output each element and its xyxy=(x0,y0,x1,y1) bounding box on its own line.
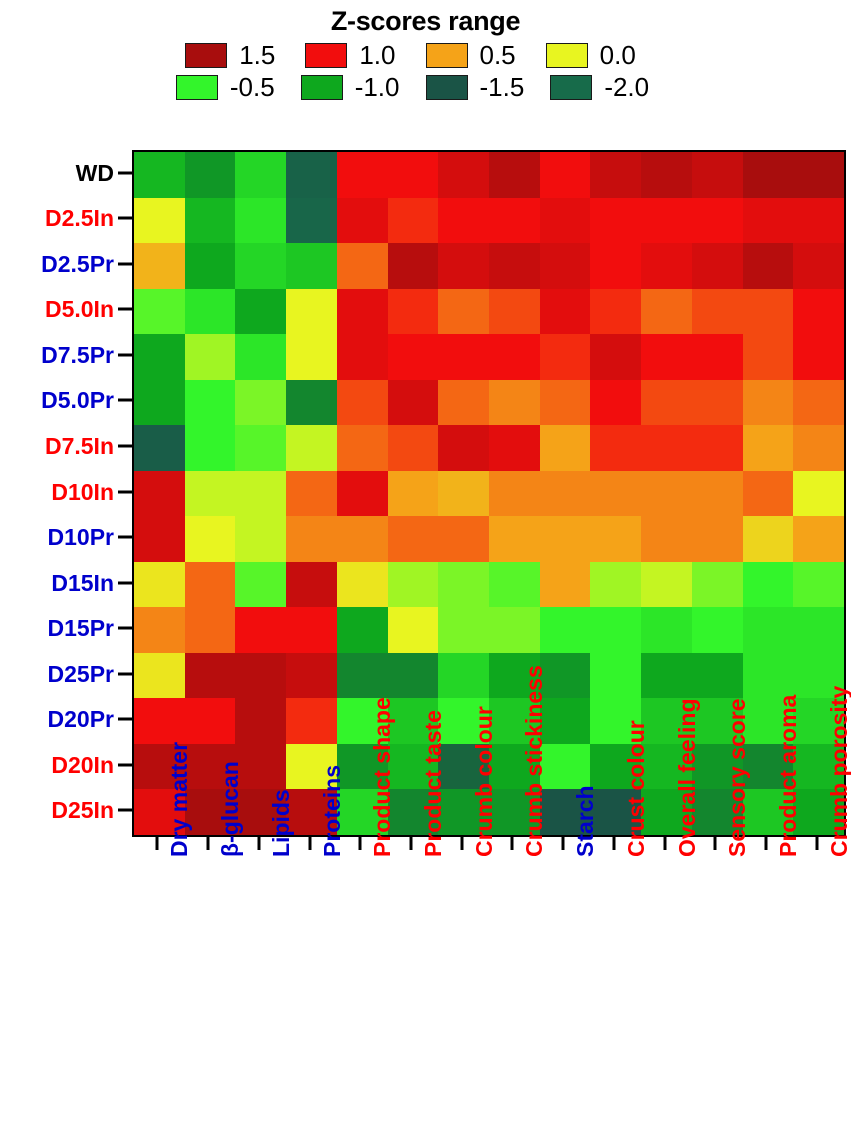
legend-swatch xyxy=(550,75,592,100)
heatmap-cell xyxy=(590,380,641,426)
heatmap-cell xyxy=(793,471,844,517)
column-tick xyxy=(663,835,666,850)
heatmap-cell xyxy=(185,698,236,744)
heatmap-cell xyxy=(337,289,388,335)
heatmap-cell xyxy=(641,152,692,198)
column-tick xyxy=(257,835,260,850)
row-tick xyxy=(118,171,132,174)
heatmap-cell xyxy=(590,198,641,244)
heatmap-cell xyxy=(134,653,185,699)
heatmap-cell xyxy=(235,562,286,608)
heatmap-cell xyxy=(743,289,794,335)
legend-label: -0.5 xyxy=(230,74,275,100)
heatmap-cell xyxy=(641,562,692,608)
column-tick xyxy=(815,835,818,850)
heatmap-cell xyxy=(134,152,185,198)
heatmap-cell xyxy=(185,152,236,198)
legend-entry: 0.0 xyxy=(546,42,666,68)
heatmap-cell xyxy=(286,425,337,471)
heatmap-cell xyxy=(235,334,286,380)
heatmap-cell xyxy=(641,243,692,289)
row-tick xyxy=(118,399,132,402)
heatmap-cell xyxy=(337,380,388,426)
heatmap-cell xyxy=(235,152,286,198)
heatmap-cell xyxy=(286,562,337,608)
heatmap-cell xyxy=(134,289,185,335)
heatmap-cell xyxy=(185,653,236,699)
legend-entry: 1.5 xyxy=(185,42,305,68)
heatmap-cell xyxy=(388,471,439,517)
heatmap-cell xyxy=(235,607,286,653)
heatmap-cell xyxy=(692,607,743,653)
heatmap-cell xyxy=(641,334,692,380)
heatmap-cell xyxy=(185,243,236,289)
heatmap-cell xyxy=(438,334,489,380)
heatmap-cell xyxy=(286,334,337,380)
heatmap-cell xyxy=(134,380,185,426)
column-axis-labels: Dry matterβ-glucanLipidsProteinsProduct … xyxy=(132,835,846,1129)
heatmap-cell xyxy=(590,152,641,198)
heatmap-cell xyxy=(185,516,236,562)
heatmap-cell xyxy=(235,698,286,744)
heatmap-cell xyxy=(235,243,286,289)
row-tick xyxy=(118,536,132,539)
row-tick xyxy=(118,262,132,265)
heatmap-cell xyxy=(134,471,185,517)
heatmap-cell xyxy=(235,289,286,335)
heatmap-cell xyxy=(540,334,591,380)
legend-swatch xyxy=(426,43,468,68)
heatmap-cell xyxy=(286,516,337,562)
heatmap-cell xyxy=(540,380,591,426)
heatmap-cell xyxy=(590,562,641,608)
heatmap-cell xyxy=(134,198,185,244)
heatmap-cell xyxy=(743,562,794,608)
heatmap-cell xyxy=(540,152,591,198)
heatmap-cell xyxy=(185,471,236,517)
heatmap-cell xyxy=(388,243,439,289)
heatmap-cell xyxy=(235,471,286,517)
row-tick xyxy=(118,490,132,493)
column-tick xyxy=(308,835,311,850)
heatmap-cell xyxy=(337,334,388,380)
heatmap-cell xyxy=(286,607,337,653)
heatmap-cell xyxy=(337,425,388,471)
row-axis-labels: WDD2.5InD2.5PrD5.0InD7.5PrD5.0PrD7.5InD1… xyxy=(0,150,132,833)
heatmap-cell xyxy=(641,471,692,517)
heatmap-cell xyxy=(286,653,337,699)
heatmap-cell xyxy=(793,243,844,289)
legend-swatch xyxy=(301,75,343,100)
heatmap-cell xyxy=(489,562,540,608)
column-tick xyxy=(714,835,717,850)
heatmap-cell xyxy=(489,516,540,562)
chart-title: Z-scores range xyxy=(0,6,851,36)
heatmap-cell xyxy=(590,425,641,471)
heatmap-cell xyxy=(388,425,439,471)
heatmap-cell xyxy=(235,198,286,244)
heatmap-cell xyxy=(692,425,743,471)
heatmap-cell xyxy=(489,471,540,517)
heatmap-cell xyxy=(590,471,641,517)
heatmap-cell xyxy=(641,289,692,335)
heatmap-cell xyxy=(134,562,185,608)
heatmap-cell xyxy=(134,334,185,380)
legend-row-bottom: -0.5-1.0-1.5-2.0 xyxy=(0,74,851,100)
heatmap-cell xyxy=(438,243,489,289)
legend-entry: -1.0 xyxy=(301,74,426,100)
legend-entry: 0.5 xyxy=(426,42,546,68)
heatmap-cell xyxy=(489,198,540,244)
heatmap-cell xyxy=(641,198,692,244)
heatmap-cell xyxy=(337,152,388,198)
heatmap-cell xyxy=(692,289,743,335)
heatmap-cell xyxy=(793,152,844,198)
heatmap-cell xyxy=(793,562,844,608)
heatmap-cell xyxy=(388,380,439,426)
row-tick xyxy=(118,308,132,311)
heatmap-cell xyxy=(185,607,236,653)
heatmap-cell xyxy=(743,152,794,198)
heatmap-cell xyxy=(743,516,794,562)
heatmap-cell xyxy=(388,334,439,380)
heatmap-cell xyxy=(235,653,286,699)
heatmap-cell xyxy=(641,425,692,471)
heatmap-cell xyxy=(743,653,794,699)
heatmap-cell xyxy=(438,471,489,517)
heatmap-cell xyxy=(743,425,794,471)
heatmap-cell xyxy=(692,471,743,517)
heatmap-cell xyxy=(286,380,337,426)
heatmap-cell xyxy=(337,653,388,699)
heatmap-cell xyxy=(489,607,540,653)
heatmap-cell xyxy=(388,516,439,562)
heatmap-cell xyxy=(286,198,337,244)
heatmap-cell xyxy=(641,380,692,426)
heatmap-cell xyxy=(235,380,286,426)
heatmap-cell xyxy=(540,425,591,471)
heatmap-cell xyxy=(235,425,286,471)
heatmap-cell xyxy=(793,425,844,471)
heatmap-cell xyxy=(438,425,489,471)
heatmap-cell xyxy=(134,516,185,562)
heatmap-cell xyxy=(286,289,337,335)
heatmap-cell xyxy=(793,198,844,244)
heatmap-cell xyxy=(793,380,844,426)
column-tick xyxy=(511,835,514,850)
heatmap-cell xyxy=(641,653,692,699)
heatmap-cell xyxy=(590,607,641,653)
heatmap-cell xyxy=(134,243,185,289)
heatmap-cell xyxy=(793,516,844,562)
row-tick xyxy=(118,672,132,675)
heatmap-cell xyxy=(590,243,641,289)
heatmap-cell xyxy=(540,198,591,244)
heatmap-cell xyxy=(743,380,794,426)
legend-label: -1.0 xyxy=(355,74,400,100)
heatmap-cell xyxy=(743,243,794,289)
heatmap-cell xyxy=(743,334,794,380)
legend-label: -1.5 xyxy=(480,74,525,100)
heatmap-cell xyxy=(590,653,641,699)
heatmap-cell xyxy=(590,334,641,380)
heatmap-cell xyxy=(692,152,743,198)
heatmap-cell xyxy=(388,562,439,608)
heatmap-cell xyxy=(337,516,388,562)
row-tick xyxy=(118,809,132,812)
heatmap-cell xyxy=(337,198,388,244)
legend-swatch xyxy=(546,43,588,68)
heatmap-cell xyxy=(388,289,439,335)
heatmap-cell xyxy=(540,607,591,653)
column-tick xyxy=(562,835,565,850)
heatmap-cell xyxy=(692,562,743,608)
heatmap-cell xyxy=(743,198,794,244)
heatmap-cell xyxy=(337,562,388,608)
column-tick xyxy=(156,835,159,850)
heatmap-cell xyxy=(793,607,844,653)
legend-block: Z-scores range 1.51.00.50.0 -0.5-1.0-1.5… xyxy=(0,0,851,136)
heatmap-cell xyxy=(692,653,743,699)
heatmap-cell xyxy=(590,516,641,562)
row-tick xyxy=(118,763,132,766)
legend-entry: 1.0 xyxy=(305,42,425,68)
column-tick xyxy=(207,835,210,850)
heatmap-cell xyxy=(134,425,185,471)
heatmap-cell xyxy=(185,289,236,335)
column-tick xyxy=(460,835,463,850)
heatmap-cell xyxy=(438,198,489,244)
legend-label: -2.0 xyxy=(604,74,649,100)
heatmap-cell xyxy=(743,471,794,517)
heatmap-cell xyxy=(489,425,540,471)
heatmap-cell xyxy=(489,243,540,289)
heatmap-cell xyxy=(540,289,591,335)
heatmap-cell xyxy=(185,380,236,426)
legend-label: 0.0 xyxy=(600,42,636,68)
heatmap-cell xyxy=(692,198,743,244)
heatmap-cell xyxy=(438,653,489,699)
heatmap-cell xyxy=(438,516,489,562)
row-tick xyxy=(118,444,132,447)
heatmap-cell xyxy=(692,380,743,426)
heatmap-cell xyxy=(337,243,388,289)
legend-label: 1.5 xyxy=(239,42,275,68)
row-tick xyxy=(118,627,132,630)
heatmap-cell xyxy=(185,425,236,471)
heatmap-cell xyxy=(337,471,388,517)
heatmap-cell xyxy=(388,607,439,653)
heatmap-cell xyxy=(641,516,692,562)
heatmap-cell xyxy=(185,334,236,380)
row-tick xyxy=(118,718,132,721)
heatmap-cell xyxy=(489,380,540,426)
legend-row-top: 1.51.00.50.0 xyxy=(0,42,851,68)
heatmap-cell xyxy=(286,152,337,198)
heatmap-cell xyxy=(185,562,236,608)
heatmap-cell xyxy=(743,607,794,653)
legend-swatch xyxy=(426,75,468,100)
heatmap-cell xyxy=(793,289,844,335)
row-tick xyxy=(118,581,132,584)
legend-entry: -2.0 xyxy=(550,74,675,100)
heatmap-cell xyxy=(286,243,337,289)
column-tick xyxy=(764,835,767,850)
legend-label: 1.0 xyxy=(359,42,395,68)
heatmap-cell xyxy=(134,698,185,744)
heatmap-cell xyxy=(388,198,439,244)
heatmap-cell xyxy=(134,607,185,653)
heatmap-cell xyxy=(185,198,236,244)
column-tick xyxy=(409,835,412,850)
heatmap-cell xyxy=(692,243,743,289)
legend-entry: -1.5 xyxy=(426,74,551,100)
legend-entry: -0.5 xyxy=(176,74,301,100)
heatmap-cell xyxy=(286,471,337,517)
heatmap-cell xyxy=(388,152,439,198)
heatmap-cell xyxy=(438,607,489,653)
heatmap-cell xyxy=(286,698,337,744)
heatmap-cell xyxy=(235,516,286,562)
row-tick xyxy=(118,353,132,356)
column-tick xyxy=(359,835,362,850)
legend-swatch xyxy=(305,43,347,68)
heatmap-cell xyxy=(540,243,591,289)
column-tick xyxy=(612,835,615,850)
heatmap-cell xyxy=(489,289,540,335)
heatmap-cell xyxy=(590,289,641,335)
heatmap-cell xyxy=(438,152,489,198)
heatmap-cell xyxy=(388,653,439,699)
heatmap-cell xyxy=(337,607,388,653)
heatmap-cell xyxy=(438,562,489,608)
heatmap-cell xyxy=(692,334,743,380)
heatmap-cell xyxy=(489,334,540,380)
heatmap-cell xyxy=(692,516,743,562)
heatmap-cell xyxy=(540,516,591,562)
heatmap-cell xyxy=(489,152,540,198)
heatmap-cell xyxy=(438,380,489,426)
row-tick xyxy=(118,217,132,220)
legend-label: 0.5 xyxy=(480,42,516,68)
legend-swatch xyxy=(185,43,227,68)
legend-swatch xyxy=(176,75,218,100)
heatmap-cell xyxy=(793,334,844,380)
heatmap-cell xyxy=(540,471,591,517)
heatmap-cell xyxy=(540,562,591,608)
heatmap-cell xyxy=(438,289,489,335)
heatmap-cell xyxy=(641,607,692,653)
